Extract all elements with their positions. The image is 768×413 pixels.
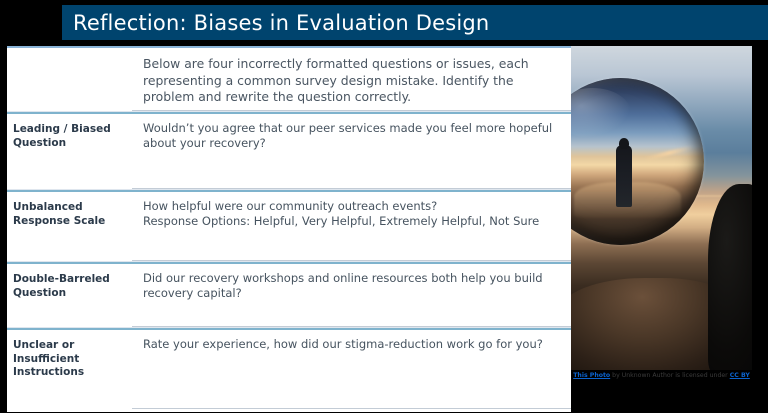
row-separator-inner (132, 408, 571, 409)
table-row: Leading / Biased Question Wouldn’t you a… (7, 114, 571, 192)
lens-ball-photo (571, 46, 752, 370)
attribution-middle-text: by Unknown Author is licensed under (610, 372, 730, 379)
reflection-table: Below are four incorrectly formatted que… (7, 46, 571, 412)
photo-dark-silhouette (708, 184, 752, 370)
page-title: Reflection: Biases in Evaluation Design (62, 11, 489, 35)
slide-canvas: Reflection: Biases in Evaluation Design … (0, 0, 768, 413)
row-label-unclear-instructions: Unclear or Insufficient Instructions (7, 330, 132, 412)
row-instructions-text: Below are four incorrectly formatted que… (132, 48, 571, 114)
row-question-double-barreled: Did our recovery workshops and online re… (132, 264, 571, 330)
row-question-leading-biased: Wouldn’t you agree that our peer service… (132, 114, 571, 192)
photo-attribution: This Photo by Unknown Author is licensed… (571, 371, 752, 381)
row-question-unbalanced-scale: How helpful were our community outreach … (132, 192, 571, 264)
table-row: Double-Barreled Question Did our recover… (7, 264, 571, 330)
table-row: Unclear or Insufficient Instructions Rat… (7, 330, 571, 412)
attribution-photo-link[interactable]: This Photo (573, 372, 610, 379)
table-row: Unbalanced Response Scale How helpful we… (7, 192, 571, 264)
row-label-double-barreled: Double-Barreled Question (7, 264, 132, 330)
attribution-license-link[interactable]: CC BY (730, 372, 750, 379)
row-label-unbalanced-scale: Unbalanced Response Scale (7, 192, 132, 264)
photo-canvas (571, 46, 752, 370)
table-row: Below are four incorrectly formatted que… (7, 48, 571, 114)
row-label-leading-biased: Leading / Biased Question (7, 114, 132, 192)
row-label (7, 48, 132, 114)
row-question-unclear-instructions: Rate your experience, how did our stigma… (132, 330, 571, 412)
slide-title-banner: Reflection: Biases in Evaluation Design (62, 5, 768, 40)
